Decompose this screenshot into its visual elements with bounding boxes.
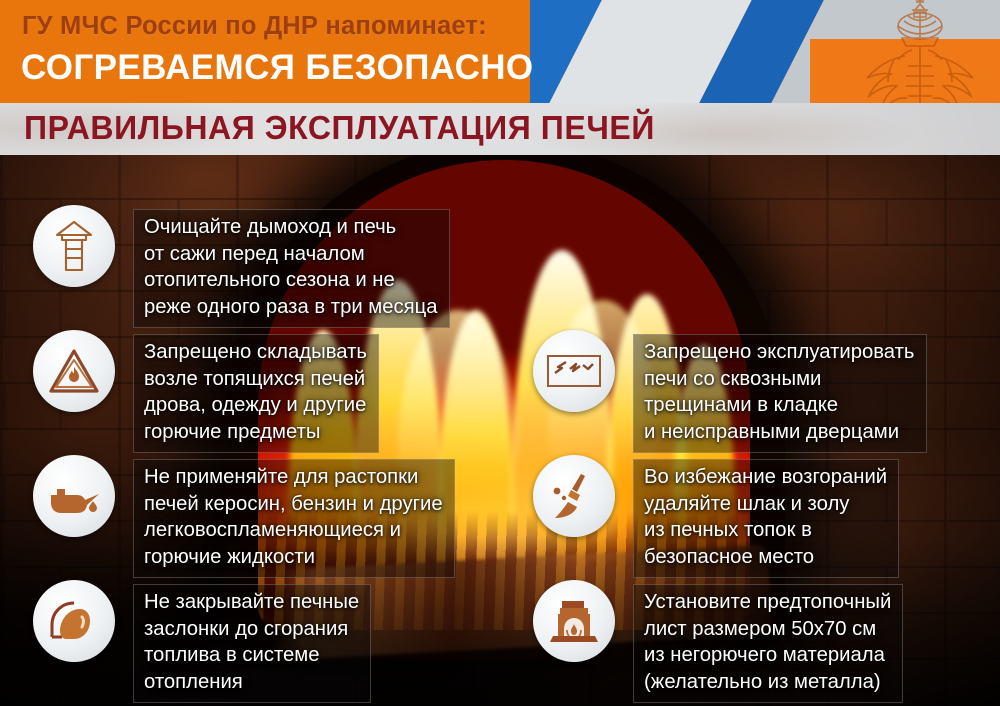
header-banner: ГУ МЧС России по ДНР напоминает: СОГРЕВА… — [0, 0, 1000, 103]
tip-text: Запрещено складывать возле топящихся печ… — [133, 334, 379, 453]
oil-can-icon — [33, 455, 115, 537]
chimney-icon — [33, 205, 115, 287]
page-title: СОГРЕВАЕМСЯ БЕЗОПАСНО — [21, 48, 534, 88]
stove-fireplace-icon — [533, 580, 615, 662]
tip-item-no-cracked-stove: Запрещено эксплуатировать печи со сквозн… — [533, 330, 927, 453]
poster: ГУ МЧС России по ДНР напоминает: СОГРЕВА… — [0, 0, 1000, 706]
broom-sweeping-ash-icon — [533, 455, 615, 537]
tip-item-install-hearth-sheet: Установите предтопочный лист размером 50… — [533, 580, 903, 703]
tip-item-no-flammable-liquids: Не применяйте для растопки печей керосин… — [33, 455, 455, 578]
tip-item-chimney-cleaning: Очищайте дымоход и печь от сажи перед на… — [33, 205, 450, 328]
tip-text: Установите предтопочный лист размером 50… — [633, 584, 903, 703]
tip-text: Не применяйте для растопки печей керосин… — [133, 459, 455, 578]
tip-text: Во избежание возгораний удаляйте шлак и … — [633, 459, 899, 578]
tip-item-remove-ash: Во избежание возгораний удаляйте шлак и … — [533, 455, 899, 578]
tip-text: Запрещено эксплуатировать печи со сквозн… — [633, 334, 927, 453]
subtitle-text: ПРАВИЛЬНАЯ ЭКСПЛУАТАЦИЯ ПЕЧЕЙ — [24, 109, 655, 147]
tip-item-do-not-close-damper: Не закрывайте печные заслонки до сгорани… — [33, 580, 371, 703]
stove-damper-icon — [33, 580, 115, 662]
flammable-warning-triangle-icon — [33, 330, 115, 412]
header-kicker: ГУ МЧС России по ДНР напоминает: — [22, 12, 487, 41]
cracked-masonry-icon — [533, 330, 615, 412]
emercom-eagle-emblem-icon — [850, 0, 990, 103]
tip-text: Не закрывайте печные заслонки до сгорани… — [133, 584, 371, 703]
tip-item-no-combustibles-near-stove: Запрещено складывать возле топящихся печ… — [33, 330, 379, 453]
subtitle-band: ПРАВИЛЬНАЯ ЭКСПЛУАТАЦИЯ ПЕЧЕЙ — [0, 103, 1000, 155]
tip-text: Очищайте дымоход и печь от сажи перед на… — [133, 209, 450, 328]
